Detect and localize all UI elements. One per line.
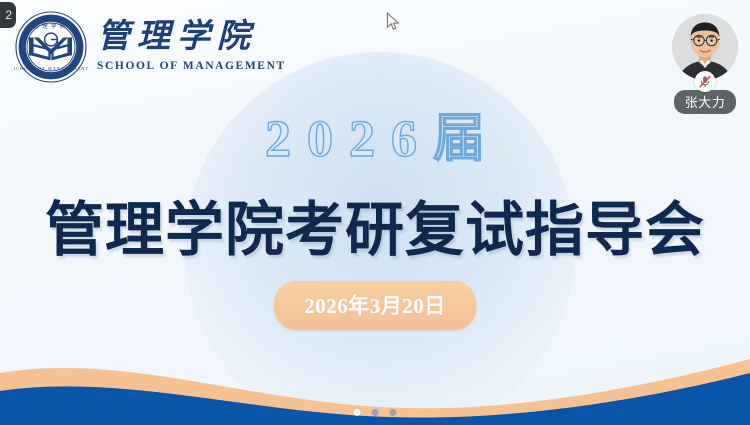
svg-text:管理学院: 管理学院 — [33, 22, 68, 30]
participant-name-tag: 张大力 — [674, 90, 737, 114]
mouse-cursor-arrow-icon — [386, 12, 400, 37]
svg-text:SCHOOL OF MANAGEMENT: SCHOOL OF MANAGEMENT — [14, 66, 88, 71]
school-logo-lockup: 管理学院 SCHOOL OF MANAGEMENT 管理学院 SCHOOL OF… — [14, 10, 286, 84]
pagination-dot-2[interactable] — [372, 409, 379, 416]
pagination-dot-3[interactable] — [390, 409, 397, 416]
slide-headline: 管理学院考研复试指导会 — [0, 182, 750, 267]
participant-count-badge[interactable]: 2 — [0, 2, 16, 28]
slide-pagination[interactable] — [354, 409, 397, 416]
slide-year-label: 2026届 — [0, 96, 750, 171]
school-name-cn: 管理学院 — [97, 21, 286, 54]
school-logo-text: 管理学院 SCHOOL OF MANAGEMENT — [97, 21, 286, 73]
meeting-slide-view: 管理学院 SCHOOL OF MANAGEMENT 管理学院 SCHOOL OF… — [0, 0, 750, 425]
participant-tile[interactable]: 张大力 — [666, 14, 744, 114]
microphone-muted-icon[interactable] — [695, 71, 716, 92]
pagination-dot-1[interactable] — [354, 409, 361, 416]
school-name-en: SCHOOL OF MANAGEMENT — [97, 61, 286, 73]
school-seal-emblem-icon: 管理学院 SCHOOL OF MANAGEMENT — [14, 10, 88, 84]
